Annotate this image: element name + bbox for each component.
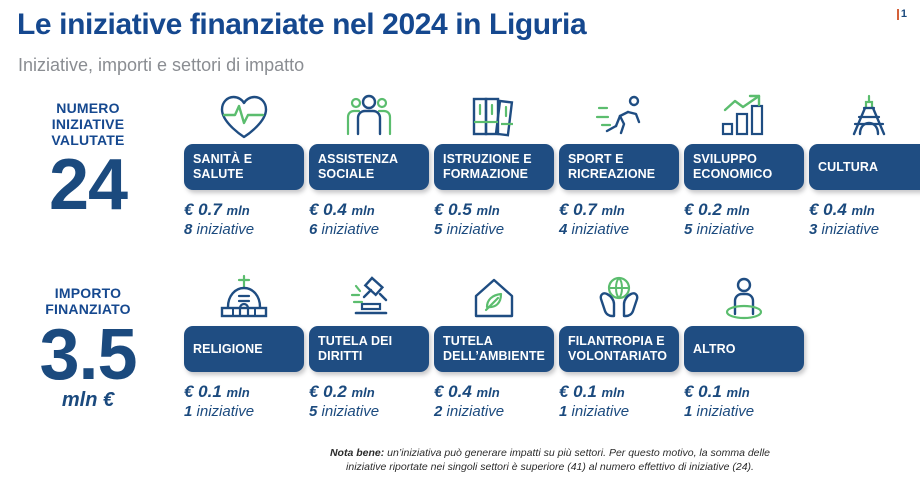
sector-count: 8 iniziative <box>184 221 254 238</box>
sector-amount: € 0.2 mln <box>309 382 375 402</box>
sector-badge[interactable]: RELIGIONE <box>184 326 304 372</box>
stat-block-importo-finanziato: IMPORTO FINANZIATO 3.5 mln € <box>0 285 176 412</box>
sector-count: 6 iniziative <box>309 221 379 238</box>
sector-card-sanita-e-salute[interactable]: SANITÀ E SALUTE € 0.7 mln 8 iniziative <box>184 92 304 238</box>
stat-value: 3.5 <box>0 317 176 393</box>
badge-text: CULTURA <box>818 160 878 175</box>
badge-line-1: FILANTROPIA E <box>568 334 665 348</box>
sector-count: 1 iniziative <box>184 403 254 420</box>
amount-value: € 0.4 <box>809 200 847 219</box>
sector-card-cultura[interactable]: CULTURA € 0.4 mln 3 iniziative <box>809 92 920 238</box>
badge-line-1: TUTELA <box>443 334 493 348</box>
amount-value: € 0.1 <box>184 382 222 401</box>
badge-line-2: ECONOMICO <box>693 167 772 181</box>
badge-line-2: DELL’AMBIENTE <box>443 349 545 363</box>
badge-line-1: ISTRUZIONE E <box>443 152 532 166</box>
stat-label-line-1: NUMERO <box>0 100 176 116</box>
badge-line-1: SVILUPPO <box>693 152 757 166</box>
amount-value: € 0.5 <box>434 200 472 219</box>
amount-value: € 0.2 <box>684 200 722 219</box>
sector-row-2: RELIGIONE € 0.1 mln 1 iniziative <box>184 274 804 420</box>
sector-card-filantropia-e-volontariato[interactable]: FILANTROPIA E VOLONTARIATO € 0.1 mln 1 i… <box>559 274 679 420</box>
person-circle-icon <box>684 274 804 326</box>
count-value: 5 <box>434 221 442 238</box>
count-value: 1 <box>559 403 567 420</box>
count-label: iniziative <box>197 221 255 238</box>
count-label: iniziative <box>197 403 255 420</box>
badge-line-2: RICREAZIONE <box>568 167 655 181</box>
count-value: 1 <box>684 403 692 420</box>
footnote-line-2: iniziative riportate nei singoli settori… <box>200 460 900 474</box>
badge-line-1: ALTRO <box>693 342 736 356</box>
count-label: iniziative <box>447 221 505 238</box>
sector-amount: € 0.1 mln <box>684 382 750 402</box>
count-label: iniziative <box>697 403 755 420</box>
count-value: 5 <box>684 221 692 238</box>
sector-count: 4 iniziative <box>559 221 629 238</box>
badge-text: TUTELA DEI DIRITTI <box>318 334 392 364</box>
amount-unit: mln <box>727 385 750 400</box>
stat-label-line-1: IMPORTO <box>0 285 176 301</box>
count-label: iniziative <box>822 221 880 238</box>
count-label: iniziative <box>572 403 630 420</box>
badge-line-2: VOLONTARIATO <box>568 349 667 363</box>
amount-value: € 0.7 <box>559 200 597 219</box>
stat-label: IMPORTO FINANZIATO <box>0 285 176 317</box>
badge-line-1: TUTELA DEI <box>318 334 392 348</box>
sector-count: 1 iniziative <box>684 403 754 420</box>
hands-globe-icon <box>559 274 679 326</box>
amount-unit: mln <box>352 203 375 218</box>
gavel-icon <box>309 274 429 326</box>
sector-amount: € 0.1 mln <box>559 382 625 402</box>
sector-amount: € 0.7 mln <box>559 200 625 220</box>
count-value: 2 <box>434 403 442 420</box>
sector-badge[interactable]: SANITÀ E SALUTE <box>184 144 304 190</box>
church-icon <box>184 274 304 326</box>
stat-value: 24 <box>0 148 176 222</box>
footnote-bold-prefix: Nota bene: <box>330 447 384 459</box>
amount-value: € 0.1 <box>559 382 597 401</box>
badge-line-1: SPORT E <box>568 152 624 166</box>
amount-unit: mln <box>477 203 500 218</box>
sector-card-assistenza-sociale[interactable]: ASSISTENZA SOCIALE € 0.4 mln 6 iniziativ… <box>309 92 429 238</box>
page-number: 1 <box>897 9 907 20</box>
badge-line-1: CULTURA <box>818 160 878 174</box>
stat-unit: mln € <box>0 389 176 412</box>
sector-card-sviluppo-economico[interactable]: SVILUPPO ECONOMICO € 0.2 mln 5 iniziativ… <box>684 92 804 238</box>
sector-badge[interactable]: TUTELA DEI DIRITTI <box>309 326 429 372</box>
amount-value: € 0.2 <box>309 382 347 401</box>
amount-unit: mln <box>602 203 625 218</box>
amount-value: € 0.7 <box>184 200 222 219</box>
count-label: iniziative <box>572 221 630 238</box>
badge-text: ISTRUZIONE E FORMAZIONE <box>443 152 532 182</box>
sector-count: 2 iniziative <box>434 403 504 420</box>
amount-value: € 0.4 <box>434 382 472 401</box>
count-label: iniziative <box>322 403 380 420</box>
sector-count: 1 iniziative <box>559 403 629 420</box>
sector-row-1: SANITÀ E SALUTE € 0.7 mln 8 iniziative <box>184 92 920 238</box>
heart-pulse-icon <box>184 92 304 144</box>
sector-amount: € 0.1 mln <box>184 382 250 402</box>
badge-text: SPORT E RICREAZIONE <box>568 152 655 182</box>
amount-value: € 0.4 <box>309 200 347 219</box>
badge-line-2: SALUTE <box>193 167 244 181</box>
amount-unit: mln <box>852 203 875 218</box>
sector-badge[interactable]: FILANTROPIA E VOLONTARIATO <box>559 326 679 372</box>
badge-line-2: SOCIALE <box>318 167 374 181</box>
sector-card-altro[interactable]: ALTRO € 0.1 mln 1 iniziative <box>684 274 804 420</box>
sector-card-tutela-dell-ambiente[interactable]: TUTELA DELL’AMBIENTE € 0.4 mln 2 iniziat… <box>434 274 554 420</box>
count-value: 8 <box>184 221 192 238</box>
badge-text: FILANTROPIA E VOLONTARIATO <box>568 334 667 364</box>
badge-line-2: DIRITTI <box>318 349 362 363</box>
sector-amount: € 0.5 mln <box>434 200 500 220</box>
badge-line-1: ASSISTENZA <box>318 152 398 166</box>
count-value: 4 <box>559 221 567 238</box>
sector-count: 5 iniziative <box>309 403 379 420</box>
badge-line-1: SANITÀ E <box>193 152 252 166</box>
badge-line-2: FORMAZIONE <box>443 167 528 181</box>
badge-text: ASSISTENZA SOCIALE <box>318 152 398 182</box>
count-label: iniziative <box>697 221 755 238</box>
amount-unit: mln <box>602 385 625 400</box>
stat-label: NUMERO INIZIATIVE VALUTATE <box>0 100 176 148</box>
count-value: 6 <box>309 221 317 238</box>
sector-badge[interactable]: ASSISTENZA SOCIALE <box>309 144 429 190</box>
sector-badge[interactable]: TUTELA DELL’AMBIENTE <box>434 326 554 372</box>
count-label: iniziative <box>322 221 380 238</box>
stat-block-iniziative-valutate: NUMERO INIZIATIVE VALUTATE 24 <box>0 100 176 222</box>
sector-badge[interactable]: SPORT E RICREAZIONE <box>559 144 679 190</box>
runner-icon <box>559 92 679 144</box>
page-subtitle: Iniziative, importi e settori di impatto <box>18 55 304 76</box>
sector-card-religione[interactable]: RELIGIONE € 0.1 mln 1 iniziative <box>184 274 304 420</box>
sector-badge[interactable]: ISTRUZIONE E FORMAZIONE <box>434 144 554 190</box>
monument-tower-icon <box>809 92 920 144</box>
count-value: 5 <box>309 403 317 420</box>
badge-text: SVILUPPO ECONOMICO <box>693 152 772 182</box>
amount-unit: mln <box>477 385 500 400</box>
house-leaf-icon <box>434 274 554 326</box>
badge-text: RELIGIONE <box>193 342 263 357</box>
amount-unit: mln <box>227 385 250 400</box>
people-group-icon <box>309 92 429 144</box>
sector-badge[interactable]: CULTURA <box>809 144 920 190</box>
amount-unit: mln <box>727 203 750 218</box>
count-value: 1 <box>184 403 192 420</box>
amount-unit: mln <box>352 385 375 400</box>
sector-amount: € 0.4 mln <box>809 200 875 220</box>
sector-amount: € 0.4 mln <box>434 382 500 402</box>
sector-card-istruzione-e-formazione[interactable]: ISTRUZIONE E FORMAZIONE € 0.5 mln 5 iniz… <box>434 92 554 238</box>
footnote: Nota bene: un’iniziativa può generare im… <box>200 446 900 474</box>
books-icon <box>434 92 554 144</box>
sector-badge[interactable]: ALTRO <box>684 326 804 372</box>
count-value: 3 <box>809 221 817 238</box>
page-title: Le iniziative finanziate nel 2024 in Lig… <box>17 8 586 42</box>
badge-text: TUTELA DELL’AMBIENTE <box>443 334 545 364</box>
footnote-line-1: un’iniziativa può generare impatti su pi… <box>384 447 770 459</box>
amount-unit: mln <box>227 203 250 218</box>
sector-amount: € 0.4 mln <box>309 200 375 220</box>
badge-text: SANITÀ E SALUTE <box>193 152 252 182</box>
amount-value: € 0.1 <box>684 382 722 401</box>
bar-chart-arrow-icon <box>684 92 804 144</box>
sector-count: 5 iniziative <box>434 221 504 238</box>
sector-count: 5 iniziative <box>684 221 754 238</box>
sector-card-sport-e-ricreazione[interactable]: SPORT E RICREAZIONE € 0.7 mln 4 iniziati… <box>559 92 679 238</box>
sector-amount: € 0.7 mln <box>184 200 250 220</box>
badge-line-1: RELIGIONE <box>193 342 263 356</box>
sector-count: 3 iniziative <box>809 221 879 238</box>
sector-amount: € 0.2 mln <box>684 200 750 220</box>
count-label: iniziative <box>447 403 505 420</box>
badge-text: ALTRO <box>693 342 736 357</box>
sector-card-tutela-dei-diritti[interactable]: TUTELA DEI DIRITTI € 0.2 mln 5 iniziativ… <box>309 274 429 420</box>
stat-label-line-2: INIZIATIVE <box>0 116 176 132</box>
sector-badge[interactable]: SVILUPPO ECONOMICO <box>684 144 804 190</box>
